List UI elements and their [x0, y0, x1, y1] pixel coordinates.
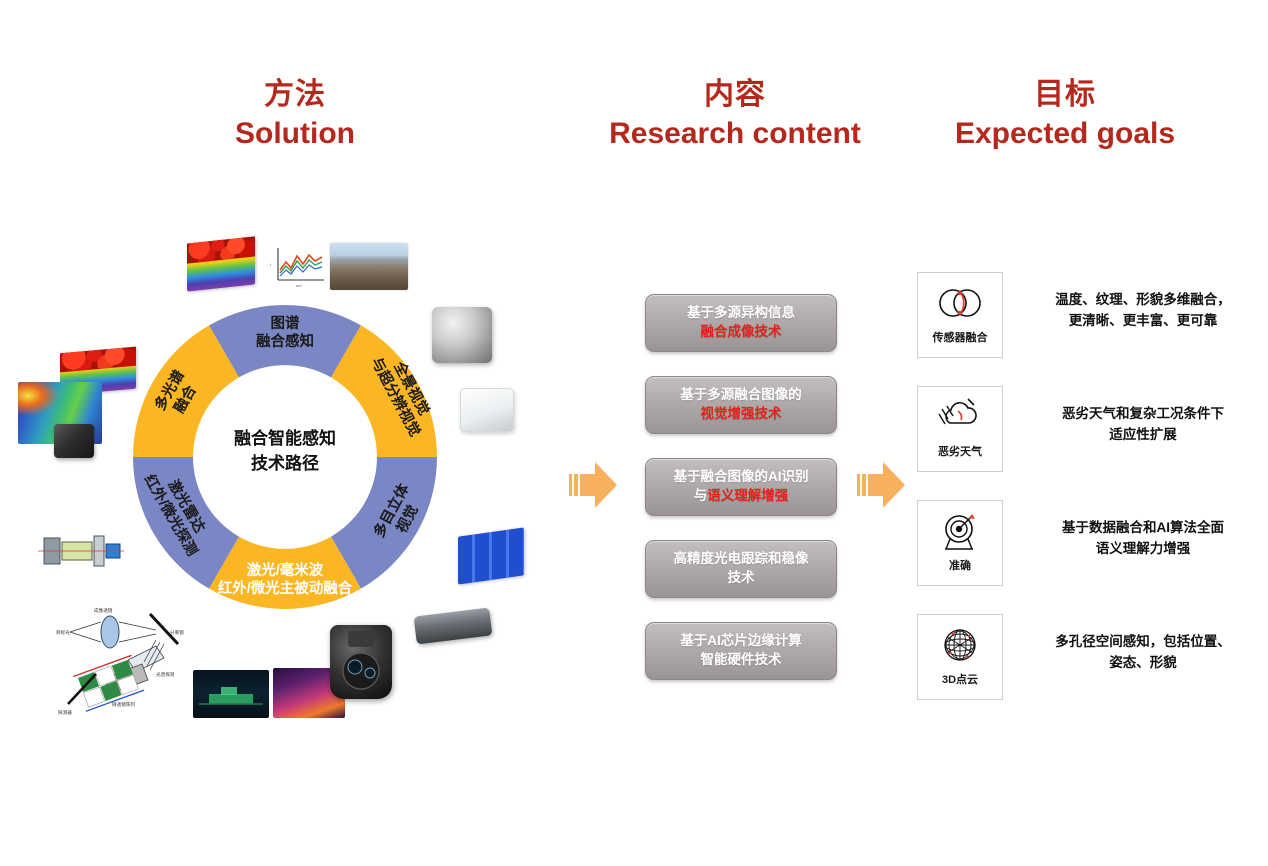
research-box-2-line1: 基于融合图像的AI识别: [674, 468, 809, 487]
header-solution-en: Solution: [160, 117, 430, 152]
goal-caption-1: 恶劣天气: [938, 443, 982, 459]
goal-text-1: 恶劣天气和复杂工况条件下 适应性扩展: [1027, 404, 1259, 446]
svg-text:光谱探测: 光谱探测: [156, 671, 175, 678]
research-box-4-line2: 智能硬件技术: [701, 651, 782, 670]
industrial-pipe-photo: [330, 243, 408, 290]
research-box-0[interactable]: 基于多源异构信息 融合成像技术: [645, 294, 837, 352]
laser-optics-bench: [34, 522, 126, 578]
svg-text:I: I: [270, 262, 271, 267]
wheel-center-title: 融合智能感知 技术路径: [185, 427, 385, 476]
infrared-camera: [54, 424, 94, 458]
goal-text-2: 基于数据融合和AI算法全面 语义理解力增强: [1027, 518, 1259, 560]
arrow-research-to-goals: [851, 458, 909, 512]
column-header-solution: 方法 Solution: [160, 78, 430, 151]
goal-icon-box-3[interactable]: 3D点云: [917, 614, 1003, 700]
svg-text:nm: nm: [296, 283, 302, 288]
research-box-3[interactable]: 高精度光电跟踪和稳像 技术: [645, 540, 837, 598]
goal-row-0: 传感器融合 温度、纹理、形貌多维融合， 更清晰、更丰富、更可靠: [917, 272, 1257, 358]
svg-text:成像透镜: 成像透镜: [94, 607, 113, 614]
column-header-goals: 目标 Expected goals: [930, 78, 1200, 151]
svg-text:目标光: 目标光: [56, 629, 70, 636]
goal-caption-0: 传感器融合: [933, 329, 988, 345]
research-box-2[interactable]: 基于融合图像的AI识别 与语义理解增强: [645, 458, 837, 516]
goal-text-3: 多孔径空间感知，包括位置、 姿态、形貌: [1027, 632, 1259, 674]
sensor-fusion-icon: [934, 281, 986, 327]
solution-wheel: 图谱 融合感知 全景视觉 与超分辨视觉 多目立体 视觉 激光/毫米波 红外/微光…: [125, 297, 445, 617]
research-box-3-line2: 技术: [728, 569, 755, 588]
column-header-research: 内容 Research content: [600, 78, 870, 151]
header-goals-en: Expected goals: [930, 117, 1200, 152]
research-box-3-line1: 高精度光电跟踪和稳像: [674, 550, 809, 569]
research-box-1-line2: 视觉增强技术: [701, 405, 782, 424]
eo-tracking-turret: [330, 625, 392, 699]
svg-text:分束镜: 分束镜: [170, 629, 184, 636]
goal-icon-box-2[interactable]: 准确: [917, 500, 1003, 586]
goal-text-0: 温度、纹理、形貌多维融合， 更清晰、更丰富、更可靠: [1027, 290, 1259, 332]
research-box-4-line1: 基于AI芯片边缘计算: [680, 632, 802, 651]
research-box-0-line2: 融合成像技术: [701, 323, 782, 342]
target-accuracy-icon: [934, 509, 986, 555]
hyperspectral-cube-1: [187, 236, 255, 291]
svg-text:微透镜阵列: 微透镜阵列: [112, 701, 135, 708]
night-vision-frame: [193, 670, 269, 718]
goal-caption-3: 3D点云: [942, 671, 978, 687]
research-box-4[interactable]: 基于AI芯片边缘计算 智能硬件技术: [645, 622, 837, 680]
point-cloud-icon: [934, 623, 986, 669]
header-research-en: Research content: [600, 117, 870, 152]
goal-icon-box-0[interactable]: 传感器融合: [917, 272, 1003, 358]
header-research-cn: 内容: [600, 78, 870, 113]
research-box-1-line1: 基于多源融合图像的: [680, 386, 802, 405]
goal-icon-box-1[interactable]: 恶劣天气: [917, 386, 1003, 472]
infographic-canvas: 方法 Solution 内容 Research content 目标 Expec…: [0, 0, 1268, 866]
svg-text:探测器: 探测器: [58, 709, 72, 716]
structured-light-target: [458, 527, 524, 584]
research-box-0-line1: 基于多源异构信息: [687, 304, 795, 323]
bad-weather-icon: [934, 395, 986, 441]
spectral-curve-plot: I nm: [268, 242, 330, 290]
goal-caption-2: 准确: [949, 557, 971, 573]
header-goals-cn: 目标: [930, 78, 1200, 113]
optical-instrument: [460, 388, 514, 432]
goal-row-1: 恶劣天气 恶劣天气和复杂工况条件下 适应性扩展: [917, 386, 1257, 472]
goal-row-2: 准确 基于数据融合和AI算法全面 语义理解力增强: [917, 500, 1257, 586]
research-box-1[interactable]: 基于多源融合图像的 视觉增强技术: [645, 376, 837, 434]
arrow-solution-to-research: [563, 458, 621, 512]
research-box-2-line2: 与语义理解增强: [694, 487, 789, 506]
goal-row-3: 3D点云 多孔径空间感知，包括位置、 姿态、形貌: [917, 614, 1257, 700]
header-solution-cn: 方法: [160, 78, 430, 113]
